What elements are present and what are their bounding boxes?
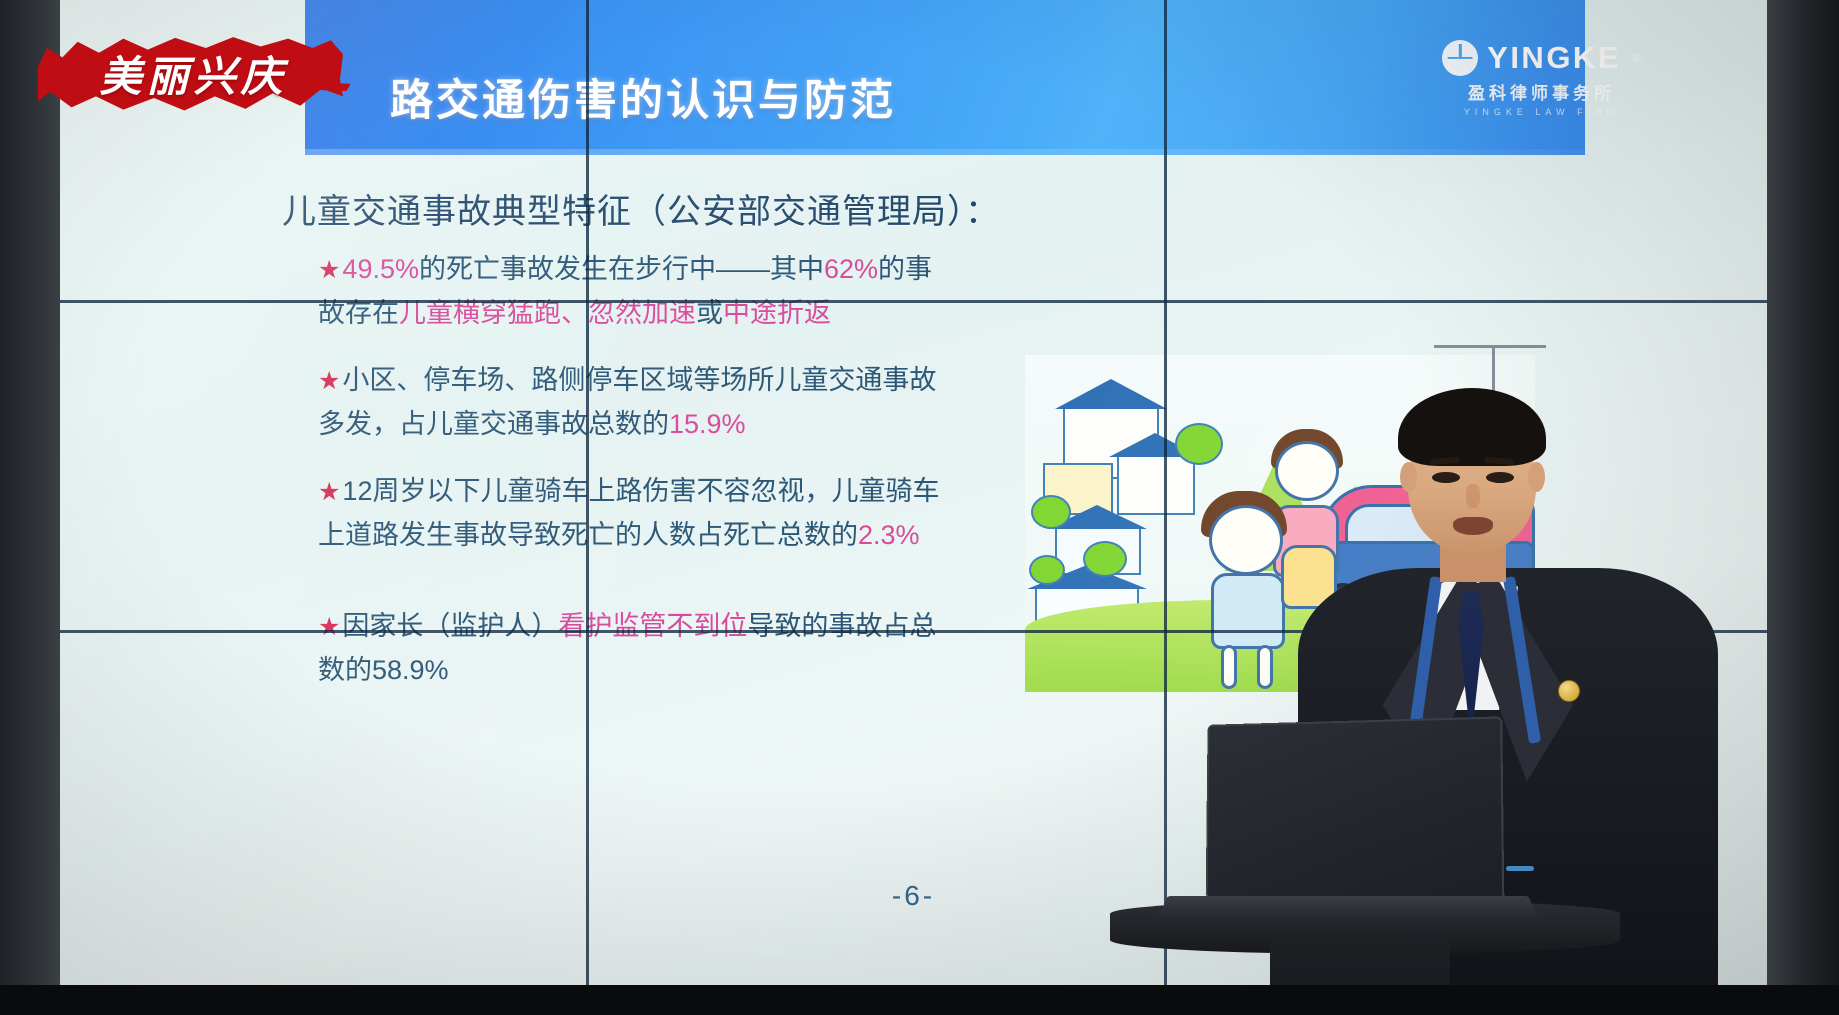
logo-brand-cn: 盈科律师事务所 (1468, 79, 1615, 104)
bullet-text-segment: 或 (696, 298, 723, 328)
presenter-eye-right (1486, 472, 1514, 483)
bullet-text-segment: 49.5% (342, 254, 419, 284)
watermark-text: 美丽兴庆 (38, 34, 343, 112)
yingke-cube-icon (1442, 40, 1478, 76)
bullet-item: ★49.5%的死亡事故发生在步行中——其中62%的事故存在儿童横穿猛跑、忽然加速… (318, 248, 958, 335)
room-wall-left (0, 0, 60, 1015)
bullet-star-icon: ★ (318, 478, 340, 506)
bullet-item: ★因家长（监护人）看护监管不到位导致的事故占总数的58.9% (318, 605, 958, 692)
bullet-item: ★12周岁以下儿童骑车上路伤害不容忽视，儿童骑车上道路发生事故导致死亡的人数占死… (318, 470, 958, 557)
bullet-text-segment: 12周岁以下儿童骑车上路伤害不容忽视，儿童骑车上道路发生事故导致死亡的人数占死亡… (318, 476, 939, 550)
room-wall-right (1767, 0, 1839, 1015)
laptop-keyboard (1156, 896, 1540, 923)
bullet-text-segment: 儿童横穿猛跑、忽然加速 (399, 298, 696, 328)
presenter-ear-left (1400, 462, 1417, 492)
bullet-star-icon: ★ (318, 367, 340, 395)
bullet-text-segment: 62% (824, 254, 878, 284)
presenter-ear-right (1528, 462, 1545, 492)
laptop-screen (1206, 716, 1505, 902)
bullet-text-segment: 因家长（监护人） (342, 611, 558, 641)
slide-bullet-list: ★49.5%的死亡事故发生在步行中——其中62%的事故存在儿童横穿猛跑、忽然加速… (318, 248, 958, 716)
screenshot-scene: 路交通伤害的认识与防范 YINGKE ® 盈科律师事务所 YINGKE LAW … (0, 0, 1839, 1015)
bullet-item: ★小区、停车场、路侧停车区域等场所儿童交通事故多发，占儿童交通事故总数的15.9… (318, 359, 958, 446)
slide-subtitle: 儿童交通事故典型特征（公安部交通管理局）： (282, 184, 1000, 233)
presenter-figure (1290, 380, 1720, 1015)
bullet-star-icon: ★ (318, 613, 340, 641)
presenter-mouth (1453, 517, 1493, 535)
presenter-eye-left (1432, 472, 1460, 483)
presenter-nose (1466, 484, 1480, 508)
bullet-text-segment: 看护监管不到位 (558, 611, 747, 641)
logo-brand-latin: YINGKE (1487, 40, 1621, 76)
bullet-text-segment: 的死亡事故发生在步行中——其中 (419, 254, 824, 284)
presenter-hair (1398, 388, 1546, 466)
bullet-text-segment: 中途折返 (723, 298, 831, 328)
bullet-text-segment: 小区、停车场、路侧停车区域等场所儿童交通事故多发，占儿童交通事故总数的 (318, 365, 936, 439)
frame-bottom-bar (0, 985, 1839, 1015)
laptop-indicator-icon (1506, 866, 1534, 871)
yingke-logo: YINGKE ® 盈科律师事务所 YINGKE LAW FIRM (1434, 32, 1649, 124)
slide-title: 路交通伤害的认识与防范 (390, 66, 896, 128)
bullet-star-icon: ★ (318, 256, 340, 284)
bullet-text-segment: 2.3% (858, 520, 920, 550)
channel-watermark: 美丽兴庆 (38, 34, 343, 112)
logo-registered-icon: ® (1632, 51, 1641, 65)
presenter-lapel-pin-icon (1558, 680, 1580, 702)
bullet-text-segment: 15.9% (669, 409, 746, 439)
logo-brand-en: YINGKE LAW FIRM (1464, 107, 1619, 117)
